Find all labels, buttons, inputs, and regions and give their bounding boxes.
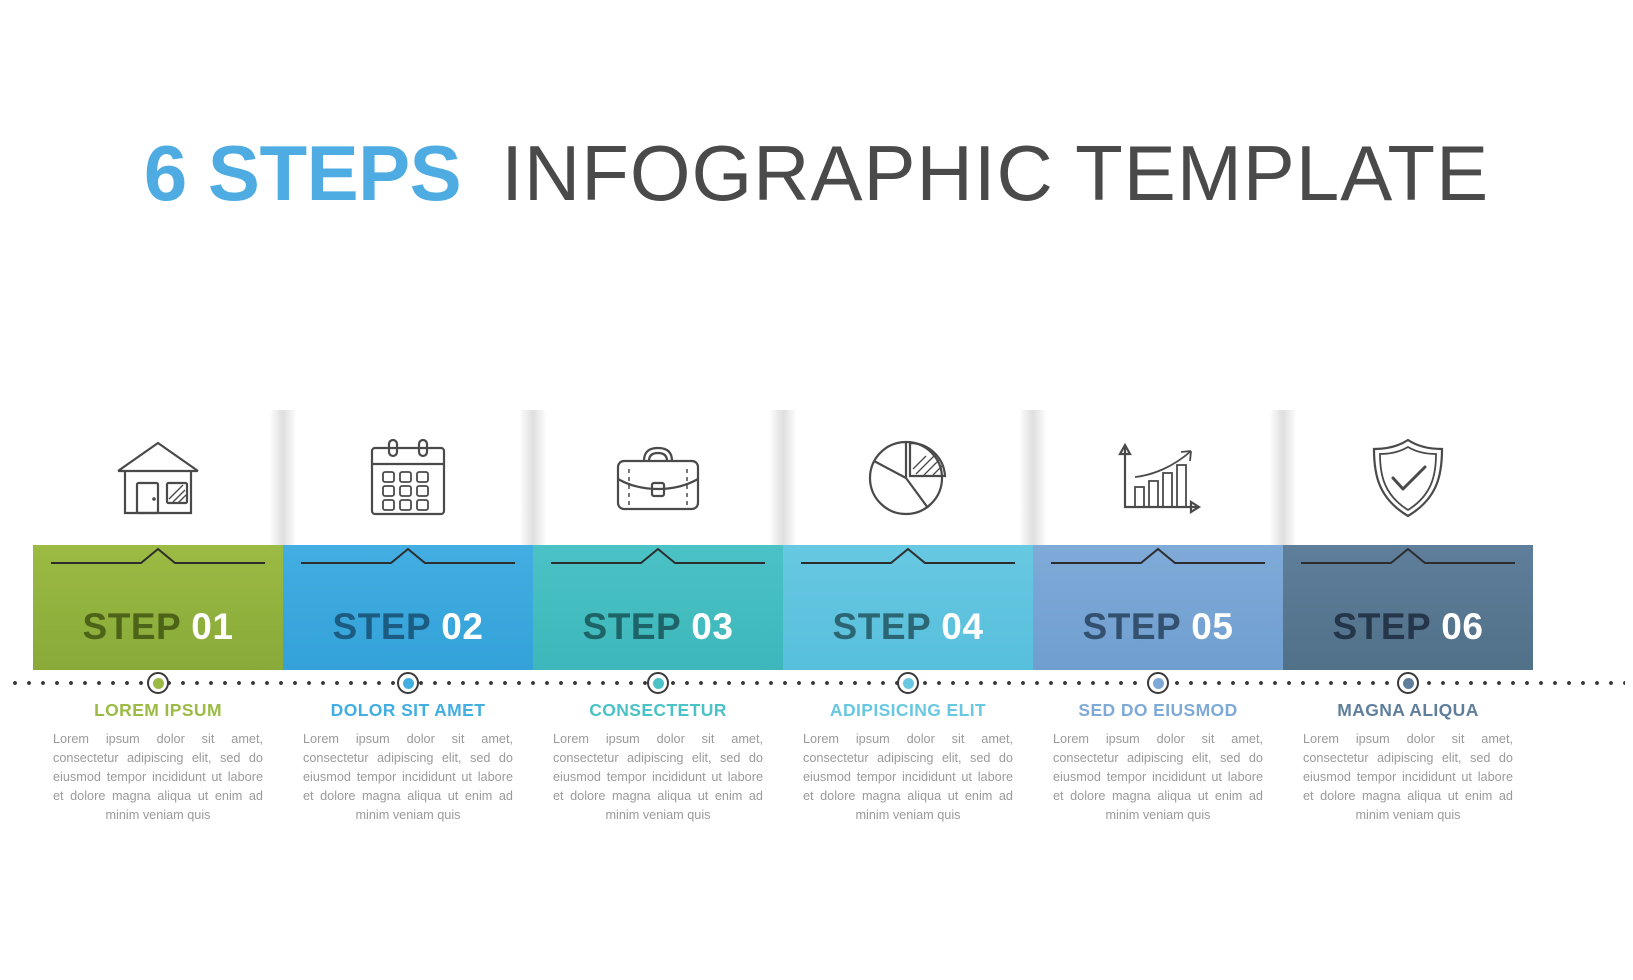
step-number-1: 01 bbox=[191, 606, 233, 647]
timeline-marker-6[interactable] bbox=[1397, 672, 1419, 694]
step-word-5: STEP bbox=[1083, 606, 1181, 647]
briefcase-icon bbox=[612, 441, 704, 515]
step-bar-6[interactable]: STEP 06 bbox=[1283, 545, 1533, 670]
step-number-3: 03 bbox=[691, 606, 733, 647]
shield-check-icon bbox=[1368, 436, 1448, 520]
chevron-notch-icon bbox=[1033, 545, 1283, 571]
description-title-4: ADIPISICING ELIT bbox=[793, 700, 1023, 721]
timeline-marker-dot-4 bbox=[903, 678, 914, 689]
step-word-2: STEP bbox=[333, 606, 431, 647]
house-icon bbox=[115, 439, 201, 517]
step-bar-2[interactable]: STEP 02 bbox=[283, 545, 533, 670]
description-body-3: Lorem ipsum dolor sit amet, consectetur … bbox=[543, 730, 773, 825]
chevron-notch-icon bbox=[533, 545, 783, 571]
title-main: INFOGRAPHIC TEMPLATE bbox=[501, 132, 1489, 214]
description-column-6: MAGNA ALIQUA Lorem ipsum dolor sit amet,… bbox=[1283, 700, 1533, 825]
chevron-notch-icon bbox=[1283, 545, 1533, 571]
step-bar-label-1: STEP 01 bbox=[83, 606, 234, 670]
description-body-2: Lorem ipsum dolor sit amet, consectetur … bbox=[293, 730, 523, 825]
icon-card-4 bbox=[783, 410, 1033, 545]
description-title-1: LOREM IPSUM bbox=[43, 700, 273, 721]
step-word-4: STEP bbox=[833, 606, 931, 647]
description-title-2: DOLOR SIT AMET bbox=[293, 700, 523, 721]
timeline-marker-2[interactable] bbox=[397, 672, 419, 694]
description-column-5: SED DO EIUSMOD Lorem ipsum dolor sit ame… bbox=[1033, 700, 1283, 825]
description-title-6: MAGNA ALIQUA bbox=[1293, 700, 1523, 721]
step-bar-3[interactable]: STEP 03 bbox=[533, 545, 783, 670]
icon-card-3 bbox=[533, 410, 783, 545]
icon-card-6 bbox=[1283, 410, 1533, 545]
step-number-4: 04 bbox=[941, 606, 983, 647]
calendar-icon bbox=[367, 438, 449, 518]
step-bar-1[interactable]: STEP 01 bbox=[33, 545, 283, 670]
description-column-4: ADIPISICING ELIT Lorem ipsum dolor sit a… bbox=[783, 700, 1033, 825]
step-bar-label-2: STEP 02 bbox=[333, 606, 484, 670]
description-body-6: Lorem ipsum dolor sit amet, consectetur … bbox=[1293, 730, 1523, 825]
description-body-1: Lorem ipsum dolor sit amet, consectetur … bbox=[43, 730, 273, 825]
chevron-notch-icon bbox=[783, 545, 1033, 571]
step-bar-label-6: STEP 06 bbox=[1333, 606, 1484, 670]
step-number-5: 05 bbox=[1191, 606, 1233, 647]
timeline-marker-dot-2 bbox=[403, 678, 414, 689]
description-body-4: Lorem ipsum dolor sit amet, consectetur … bbox=[793, 730, 1023, 825]
icon-card-5 bbox=[1033, 410, 1283, 545]
title-accent: 6 STEPS bbox=[144, 132, 461, 214]
timeline-marker-dot-5 bbox=[1153, 678, 1164, 689]
step-bar-label-3: STEP 03 bbox=[583, 606, 734, 670]
icon-card-2 bbox=[283, 410, 533, 545]
timeline-marker-1[interactable] bbox=[147, 672, 169, 694]
timeline-marker-dot-1 bbox=[153, 678, 164, 689]
timeline-marker-5[interactable] bbox=[1147, 672, 1169, 694]
step-bar-4[interactable]: STEP 04 bbox=[783, 545, 1033, 670]
description-title-5: SED DO EIUSMOD bbox=[1043, 700, 1273, 721]
timeline bbox=[0, 672, 1633, 694]
timeline-dots bbox=[8, 680, 1625, 686]
descriptions-row: LOREM IPSUM Lorem ipsum dolor sit amet, … bbox=[33, 700, 1533, 825]
timeline-marker-dot-6 bbox=[1403, 678, 1414, 689]
pie-chart-icon bbox=[866, 437, 950, 519]
step-word-3: STEP bbox=[583, 606, 681, 647]
step-word-1: STEP bbox=[83, 606, 181, 647]
step-bar-label-4: STEP 04 bbox=[833, 606, 984, 670]
step-number-2: 02 bbox=[441, 606, 483, 647]
description-body-5: Lorem ipsum dolor sit amet, consectetur … bbox=[1043, 730, 1273, 825]
description-column-3: CONSECTETUR Lorem ipsum dolor sit amet, … bbox=[533, 700, 783, 825]
description-column-1: LOREM IPSUM Lorem ipsum dolor sit amet, … bbox=[33, 700, 283, 825]
step-bar-5[interactable]: STEP 05 bbox=[1033, 545, 1283, 670]
timeline-marker-3[interactable] bbox=[647, 672, 669, 694]
step-number-6: 06 bbox=[1441, 606, 1483, 647]
chevron-notch-icon bbox=[283, 545, 533, 571]
infographic-canvas: 6 STEPSINFOGRAPHIC TEMPLATE bbox=[0, 0, 1633, 980]
timeline-marker-dot-3 bbox=[653, 678, 664, 689]
page-title: 6 STEPSINFOGRAPHIC TEMPLATE bbox=[0, 132, 1633, 214]
icon-card-1 bbox=[33, 410, 283, 545]
chevron-notch-icon bbox=[33, 545, 283, 571]
description-column-2: DOLOR SIT AMET Lorem ipsum dolor sit ame… bbox=[283, 700, 533, 825]
description-title-3: CONSECTETUR bbox=[543, 700, 773, 721]
step-bar-label-5: STEP 05 bbox=[1083, 606, 1234, 670]
timeline-marker-4[interactable] bbox=[897, 672, 919, 694]
step-word-6: STEP bbox=[1333, 606, 1431, 647]
growth-chart-icon bbox=[1113, 439, 1203, 517]
